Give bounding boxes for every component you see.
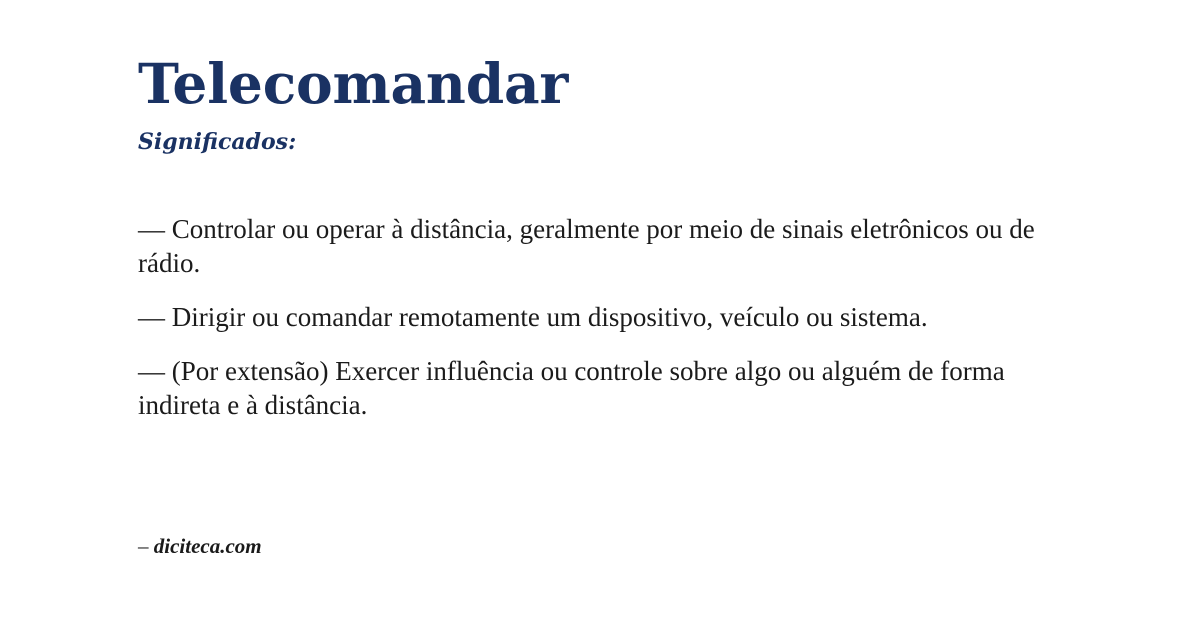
definitions-list: — Controlar ou operar à distância, geral… xyxy=(138,212,1058,422)
definition-item: — Dirigir ou comandar remotamente um dis… xyxy=(138,300,1058,334)
definition-text: Controlar ou operar à distância, geralme… xyxy=(138,214,1035,278)
definition-text: Dirigir ou comandar remotamente um dispo… xyxy=(172,302,928,332)
source-name: diciteca.com xyxy=(154,534,262,558)
definition-dash: — xyxy=(138,356,165,386)
meanings-section-label: Significados: xyxy=(138,130,296,154)
definition-item: — (Por extensão) Exercer influência ou c… xyxy=(138,354,1058,422)
definition-dash: — xyxy=(138,214,165,244)
source-attribution: – diciteca.com xyxy=(138,534,262,559)
definition-dash: — xyxy=(138,302,165,332)
footer-dash: – xyxy=(138,534,149,558)
definition-text: (Por extensão) Exercer influência ou con… xyxy=(138,356,1005,420)
page-title: Telecomandar xyxy=(138,54,568,113)
dictionary-entry-card: Telecomandar Significados: — Controlar o… xyxy=(0,0,1200,628)
definition-item: — Controlar ou operar à distância, geral… xyxy=(138,212,1058,280)
